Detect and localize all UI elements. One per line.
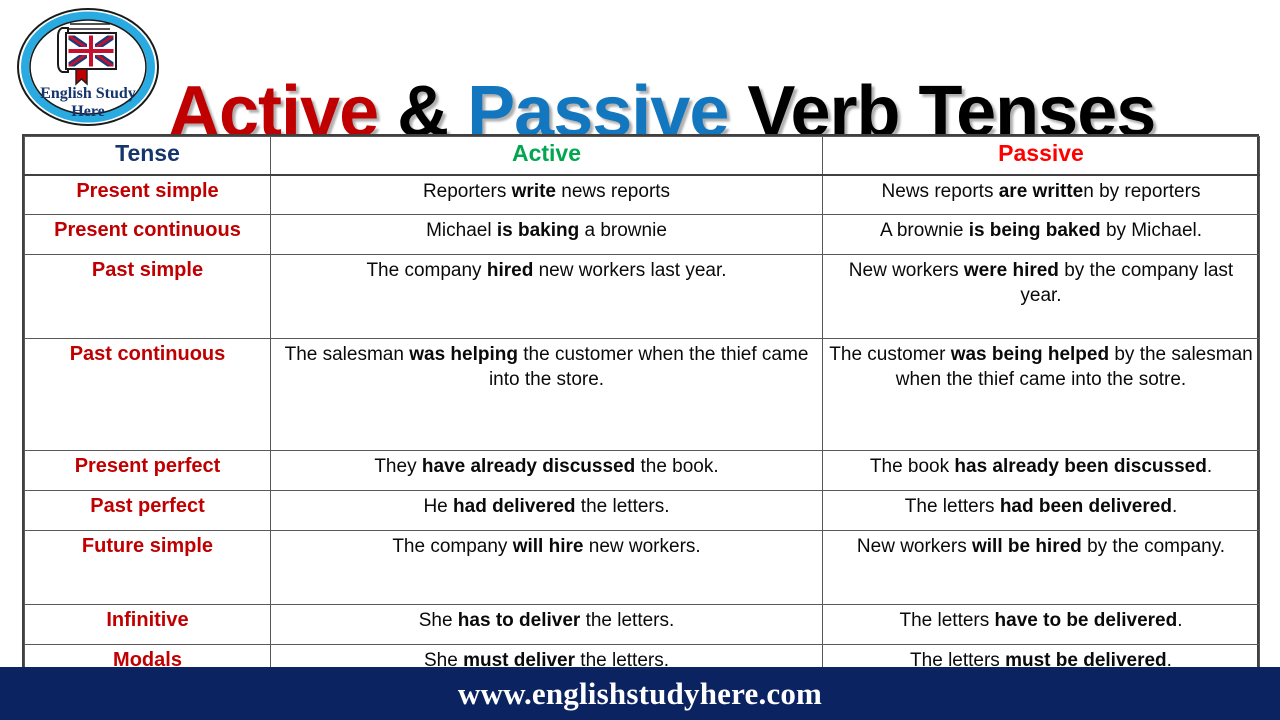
sentence-verb-phrase: write [512, 181, 556, 202]
sentence-suffix: a brownie [579, 220, 667, 241]
sentence-suffix: . [1177, 610, 1182, 631]
sentence-prefix: The salesman [285, 344, 410, 365]
svg-text:Here: Here [71, 103, 104, 120]
table-row: Past continuousThe salesman was helping … [25, 339, 1260, 451]
sentence-verb-phrase: had delivered [453, 496, 576, 517]
column-header-tense: Tense [25, 137, 271, 175]
sentence-prefix: The book [870, 456, 955, 477]
table-row: Future simpleThe company will hire new w… [25, 531, 1260, 605]
tense-label: Past simple [25, 255, 271, 339]
sentence-verb-phrase: will be hired [972, 536, 1082, 557]
sentence-prefix: The company [392, 536, 512, 557]
sentence-suffix: new workers last year. [533, 260, 726, 281]
passive-voice-sentence: New workers will be hired by the company… [823, 531, 1260, 605]
sentence-prefix: New workers [857, 536, 972, 557]
sentence-prefix: The letters [899, 610, 994, 631]
sentence-verb-phrase: hired [487, 260, 533, 281]
footer-banner: www.englishstudyhere.com [0, 667, 1280, 720]
passive-voice-sentence: The customer was being helped by the sal… [823, 339, 1260, 451]
logo-icon: English Study Here [14, 6, 162, 128]
tense-label: Future simple [25, 531, 271, 605]
active-voice-sentence: He had delivered the letters. [271, 491, 823, 531]
sentence-suffix: the letters. [576, 496, 670, 517]
page-header: English Study Here Active & Passive Verb… [0, 0, 1280, 132]
sentence-prefix: The letters [905, 496, 1000, 517]
passive-voice-sentence: News reports are written by reporters [823, 175, 1260, 215]
sentence-suffix: the customer when the thief came into th… [489, 344, 808, 390]
website-url: www.englishstudyhere.com [458, 676, 822, 712]
sentence-prefix: The customer [829, 344, 950, 365]
table-row: Present perfectThey have already discuss… [25, 451, 1260, 491]
active-voice-sentence: The company hired new workers last year. [271, 255, 823, 339]
table-row: InfinitiveShe has to deliver the letters… [25, 605, 1260, 645]
sentence-verb-phrase: are writte [999, 181, 1083, 202]
sentence-prefix: News reports [882, 181, 999, 202]
sentence-suffix: . [1172, 496, 1177, 517]
active-voice-sentence: They have already discussed the book. [271, 451, 823, 491]
sentence-verb-phrase: had been delivered [1000, 496, 1172, 517]
sentence-verb-phrase: was being helped [951, 344, 1109, 365]
tense-label: Present perfect [25, 451, 271, 491]
sentence-prefix: The company [366, 260, 486, 281]
sentence-suffix: the letters. [580, 610, 674, 631]
sentence-prefix: She [419, 610, 458, 631]
sentence-suffix: the book. [635, 456, 718, 477]
sentence-verb-phrase: is baking [497, 220, 579, 241]
active-voice-sentence: Reporters write news reports [271, 175, 823, 215]
sentence-suffix: new workers. [583, 536, 700, 557]
sentence-suffix: . [1207, 456, 1212, 477]
table-row: Past perfectHe had delivered the letters… [25, 491, 1260, 531]
sentence-verb-phrase: has to deliver [458, 610, 581, 631]
sentence-verb-phrase: was helping [409, 344, 518, 365]
sentence-verb-phrase: will hire [513, 536, 584, 557]
column-header-active: Active [271, 137, 823, 175]
sentence-verb-phrase: has already been discussed [954, 456, 1206, 477]
sentence-verb-phrase: have to be delivered [995, 610, 1178, 631]
passive-voice-sentence: The book has already been discussed. [823, 451, 1260, 491]
tense-label: Past perfect [25, 491, 271, 531]
column-header-passive: Passive [823, 137, 1260, 175]
passive-voice-sentence: The letters have to be delivered. [823, 605, 1260, 645]
sentence-verb-phrase: is being baked [969, 220, 1101, 241]
tense-label: Present simple [25, 175, 271, 215]
passive-voice-sentence: A brownie is being baked by Michael. [823, 215, 1260, 255]
table-body: Present simpleReporters write news repor… [25, 175, 1260, 685]
svg-text:English Study: English Study [40, 85, 136, 102]
passive-voice-sentence: The letters had been delivered. [823, 491, 1260, 531]
active-voice-sentence: The salesman was helping the customer wh… [271, 339, 823, 451]
sentence-suffix: by the company. [1082, 536, 1225, 557]
passive-voice-sentence: New workers were hired by the company la… [823, 255, 1260, 339]
sentence-prefix: New workers [849, 260, 964, 281]
tense-label: Present continuous [25, 215, 271, 255]
table-row: Present continuousMichael is baking a br… [25, 215, 1260, 255]
verb-tenses-table-container: Tense Active Passive Present simpleRepor… [22, 134, 1259, 687]
sentence-verb-phrase: were hired [964, 260, 1059, 281]
verb-tenses-table: Tense Active Passive Present simpleRepor… [24, 136, 1260, 685]
sentence-prefix: They [374, 456, 422, 477]
sentence-suffix: news reports [556, 181, 670, 202]
tense-label: Infinitive [25, 605, 271, 645]
active-voice-sentence: The company will hire new workers. [271, 531, 823, 605]
english-study-here-logo: English Study Here [14, 6, 162, 128]
table-row: Present simpleReporters write news repor… [25, 175, 1260, 215]
sentence-suffix: by Michael. [1101, 220, 1202, 241]
active-voice-sentence: Michael is baking a brownie [271, 215, 823, 255]
table-header: Tense Active Passive [25, 137, 1260, 175]
sentence-prefix: Michael [426, 220, 497, 241]
active-voice-sentence: She has to deliver the letters. [271, 605, 823, 645]
sentence-suffix: n by reporters [1083, 181, 1200, 202]
table-row: Past simpleThe company hired new workers… [25, 255, 1260, 339]
sentence-verb-phrase: have already discussed [422, 456, 635, 477]
sentence-prefix: He [423, 496, 453, 517]
table-header-row: Tense Active Passive [25, 137, 1260, 175]
tense-label: Past continuous [25, 339, 271, 451]
sentence-prefix: Reporters [423, 181, 512, 202]
sentence-prefix: A brownie [880, 220, 969, 241]
